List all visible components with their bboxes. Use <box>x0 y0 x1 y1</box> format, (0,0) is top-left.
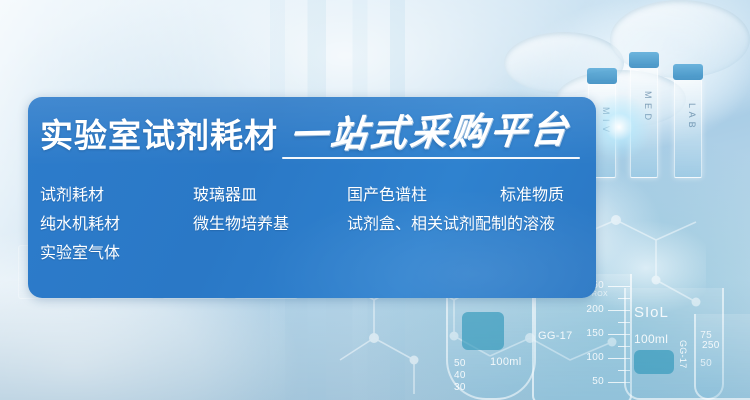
headline-brush-text: 一站式采购平台 <box>288 112 572 155</box>
category-item-microbial-media[interactable]: 微生物培养基 <box>193 210 289 234</box>
headline-underline <box>282 157 580 159</box>
category-item-domestic-chrom-column[interactable]: 国产色谱柱 <box>347 181 427 205</box>
category-row: 纯水机耗材 微生物培养基 试剂盒、相关试剂配制的溶液 <box>40 210 588 239</box>
category-item-kits-and-solutions[interactable]: 试剂盒、相关试剂配制的溶液 <box>347 210 555 234</box>
test-tube: L A B <box>674 76 702 178</box>
tube-label: L A B <box>679 103 697 129</box>
headline-panel: 实验室试剂耗材 一站式采购平台 试剂耗材 玻璃器皿 国产色谱柱 标准物质 纯水机… <box>28 97 596 298</box>
category-item-reference-materials[interactable]: 标准物质 <box>500 181 564 205</box>
headline-bold-text: 实验室试剂耗材 <box>40 119 278 152</box>
category-item-water-purifier-consumables[interactable]: 纯水机耗材 <box>40 210 120 234</box>
category-list: 试剂耗材 玻璃器皿 国产色谱柱 标准物质 纯水机耗材 微生物培养基 试剂盒、相关… <box>40 181 588 268</box>
headline: 实验室试剂耗材 一站式采购平台 <box>40 115 586 152</box>
tube-cap <box>629 52 659 68</box>
tube-cap <box>673 64 703 80</box>
category-item-reagent-consumables[interactable]: 试剂耗材 <box>40 181 104 205</box>
category-item-lab-gases[interactable]: 实验室气体 <box>40 239 120 263</box>
tube-cap <box>587 68 617 84</box>
lab-reagent-banner: M I V M E D L A B <box>0 0 750 400</box>
category-item-glassware[interactable]: 玻璃器皿 <box>193 181 257 205</box>
category-row: 实验室气体 <box>40 239 588 268</box>
category-row: 试剂耗材 玻璃器皿 国产色谱柱 标准物质 <box>40 181 588 210</box>
